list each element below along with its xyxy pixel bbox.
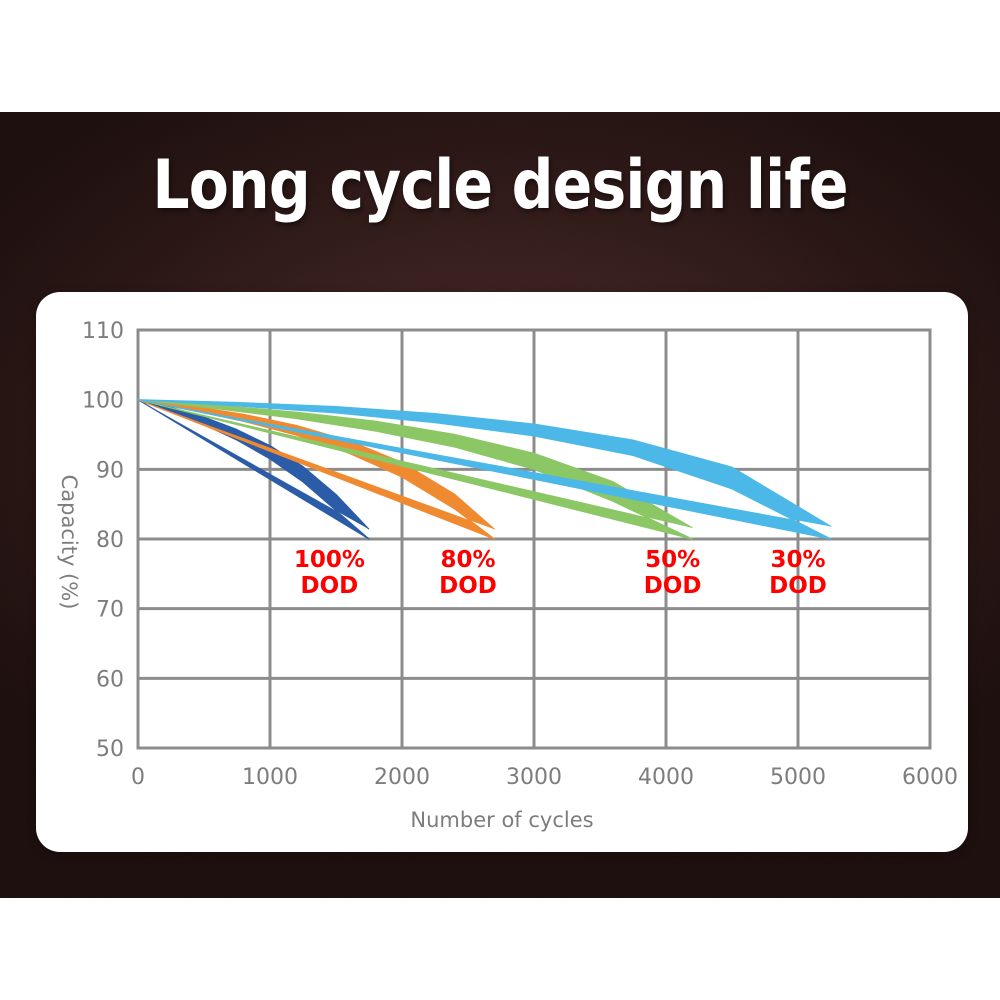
y-tick-label: 90 xyxy=(96,458,124,483)
x-tick-label: 4000 xyxy=(638,765,694,790)
y-tick-label: 50 xyxy=(96,737,124,762)
chart-axis-ticks: 5060708090100110010002000300040005000600… xyxy=(82,319,958,790)
y-tick-label: 110 xyxy=(82,319,124,344)
dod-label-80dod: 80%DOD xyxy=(439,547,497,599)
x-tick-label: 2000 xyxy=(374,765,430,790)
dod-label-100dod: 100%DOD xyxy=(294,547,365,599)
x-tick-label: 0 xyxy=(131,765,145,790)
y-tick-label: 70 xyxy=(96,598,124,623)
y-tick-label: 60 xyxy=(96,667,124,692)
page-root: Long cycle design life 100%DOD80%DOD50%D… xyxy=(0,0,1000,1000)
capacity-vs-cycles-chart: 100%DOD80%DOD50%DOD30%DOD 50607080901001… xyxy=(36,292,968,852)
chart-dod-annotations: 100%DOD80%DOD50%DOD30%DOD xyxy=(294,547,827,599)
x-tick-label: 5000 xyxy=(770,765,826,790)
dod-label-50dod: 50%DOD xyxy=(644,547,702,599)
page-title: Long cycle design life xyxy=(70,152,930,220)
y-tick-label: 100 xyxy=(82,389,124,414)
x-tick-label: 1000 xyxy=(242,765,298,790)
chart-gridlines xyxy=(138,330,930,748)
y-tick-label: 80 xyxy=(96,528,124,553)
x-tick-label: 6000 xyxy=(902,765,958,790)
chart-card: 100%DOD80%DOD50%DOD30%DOD 50607080901001… xyxy=(36,292,968,852)
x-tick-label: 3000 xyxy=(506,765,562,790)
dod-label-30dod: 30%DOD xyxy=(769,547,827,599)
x-axis-title: Number of cycles xyxy=(410,808,593,832)
y-axis-title: Capacity (%) xyxy=(57,475,81,610)
chart-container: 100%DOD80%DOD50%DOD30%DOD 50607080901001… xyxy=(36,292,968,852)
